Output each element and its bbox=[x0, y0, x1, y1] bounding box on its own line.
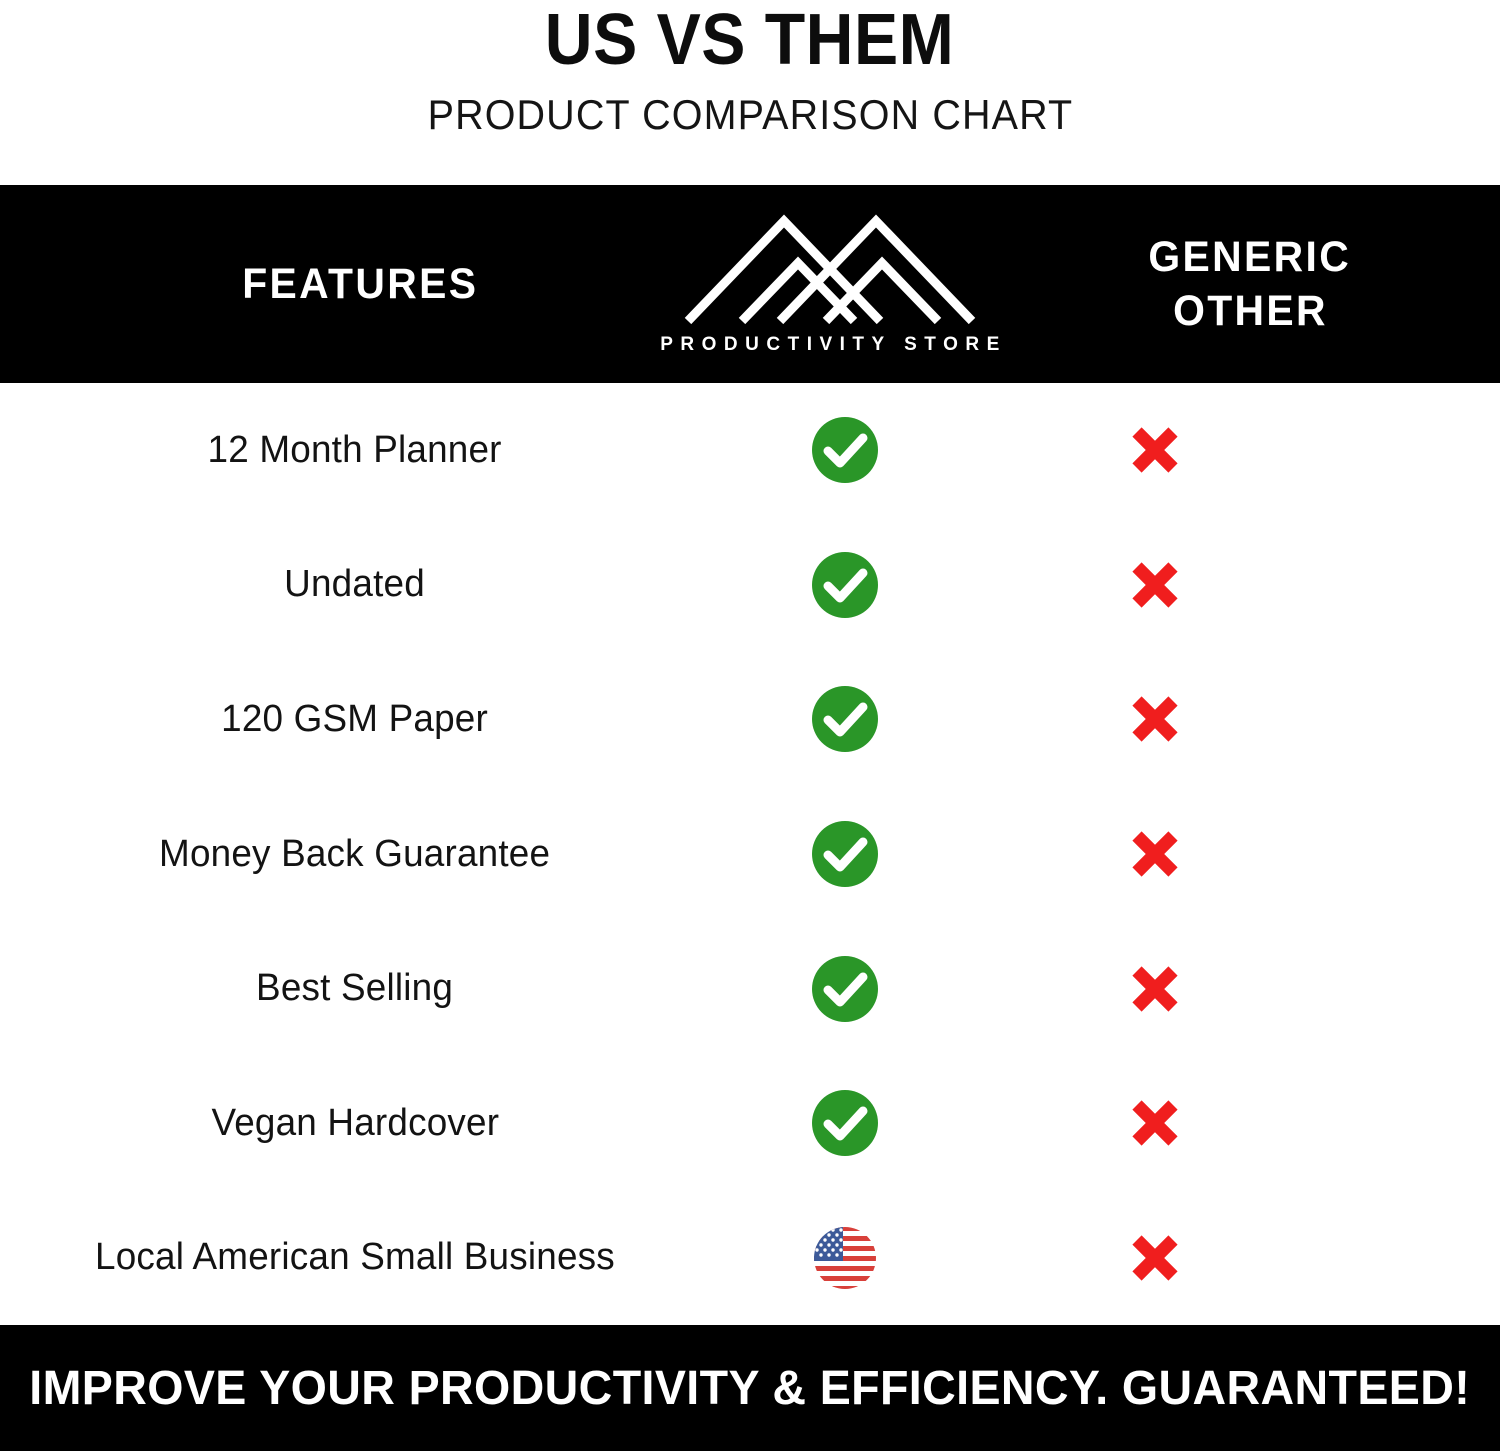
table-row: Local American Small Business bbox=[0, 1190, 1500, 1325]
footer-banner: IMPROVE YOUR PRODUCTIVITY & EFFICIENCY. … bbox=[0, 1325, 1500, 1451]
feature-name-cell: Money Back Guarantee bbox=[0, 833, 720, 876]
page-title: US VS THEM bbox=[545, 2, 954, 78]
us-value-cell bbox=[720, 414, 970, 486]
feature-label: Money Back Guarantee bbox=[159, 833, 550, 876]
feature-label: Vegan Hardcover bbox=[211, 1102, 499, 1145]
column-header-brand: PRODUCTIVITY STORE bbox=[610, 185, 1050, 383]
check-circle-icon bbox=[809, 549, 881, 621]
features-header-label: FEATURES bbox=[242, 260, 478, 309]
table-row: Money Back Guarantee bbox=[0, 787, 1500, 922]
check-circle-icon bbox=[809, 818, 881, 890]
feature-rows: 12 Month Planner Undated bbox=[0, 383, 1500, 1325]
them-value-cell bbox=[970, 420, 1410, 480]
cross-mark-icon bbox=[1125, 824, 1185, 884]
cross-mark-icon bbox=[1125, 959, 1185, 1019]
us-value-cell bbox=[720, 818, 970, 890]
feature-name-cell: Undated bbox=[0, 563, 720, 606]
page-subtitle: PRODUCT COMPARISON CHART bbox=[427, 92, 1073, 138]
title-block: US VS THEM PRODUCT COMPARISON CHART bbox=[0, 0, 1500, 185]
feature-name-cell: 12 Month Planner bbox=[0, 429, 720, 472]
check-circle-icon bbox=[809, 953, 881, 1025]
table-row: 120 GSM Paper bbox=[0, 652, 1500, 787]
them-value-cell bbox=[970, 824, 1410, 884]
us-value-cell bbox=[720, 1087, 970, 1159]
competitor-header-line2: OTHER bbox=[1173, 284, 1328, 338]
cross-mark-icon bbox=[1125, 420, 1185, 480]
them-value-cell bbox=[970, 1228, 1410, 1288]
them-value-cell bbox=[970, 555, 1410, 615]
check-circle-icon bbox=[809, 1087, 881, 1159]
mountain-peaks-logo-icon bbox=[680, 213, 980, 325]
feature-label: Undated bbox=[285, 563, 426, 606]
feature-label: Best Selling bbox=[256, 967, 453, 1010]
usa-flag-circle-icon bbox=[813, 1226, 877, 1290]
us-value-cell bbox=[720, 683, 970, 755]
column-header-features: FEATURES bbox=[150, 185, 570, 383]
them-value-cell bbox=[970, 959, 1410, 1019]
check-circle-icon bbox=[809, 683, 881, 755]
feature-name-cell: Local American Small Business bbox=[0, 1236, 720, 1279]
table-row: Best Selling bbox=[0, 921, 1500, 1056]
brand-wordmark: PRODUCTIVITY STORE bbox=[653, 334, 1007, 356]
cross-mark-icon bbox=[1125, 689, 1185, 749]
feature-name-cell: Best Selling bbox=[0, 967, 720, 1010]
table-row: Vegan Hardcover bbox=[0, 1056, 1500, 1191]
table-row: 12 Month Planner bbox=[0, 383, 1500, 518]
check-circle-icon bbox=[809, 414, 881, 486]
us-value-cell bbox=[720, 549, 970, 621]
feature-label: 120 GSM Paper bbox=[222, 698, 489, 741]
table-row: Undated bbox=[0, 518, 1500, 653]
feature-label: 12 Month Planner bbox=[208, 429, 502, 472]
cross-mark-icon bbox=[1125, 555, 1185, 615]
us-value-cell bbox=[720, 953, 970, 1025]
competitor-header-line1: GENERIC bbox=[1149, 230, 1352, 284]
comparison-chart-page: US VS THEM PRODUCT COMPARISON CHART FEAT… bbox=[0, 0, 1500, 1451]
feature-name-cell: Vegan Hardcover bbox=[0, 1102, 720, 1145]
us-value-cell bbox=[720, 1226, 970, 1290]
table-header-band: FEATURES PRODUCTIVITY STORE GENERIC OTHE… bbox=[0, 185, 1500, 383]
them-value-cell bbox=[970, 1093, 1410, 1153]
cross-mark-icon bbox=[1125, 1228, 1185, 1288]
feature-label: Local American Small Business bbox=[95, 1236, 615, 1279]
column-header-competitor: GENERIC OTHER bbox=[1060, 185, 1440, 383]
footer-tagline: IMPROVE YOUR PRODUCTIVITY & EFFICIENCY. … bbox=[30, 1361, 1471, 1416]
feature-name-cell: 120 GSM Paper bbox=[0, 698, 720, 741]
cross-mark-icon bbox=[1125, 1093, 1185, 1153]
them-value-cell bbox=[970, 689, 1410, 749]
